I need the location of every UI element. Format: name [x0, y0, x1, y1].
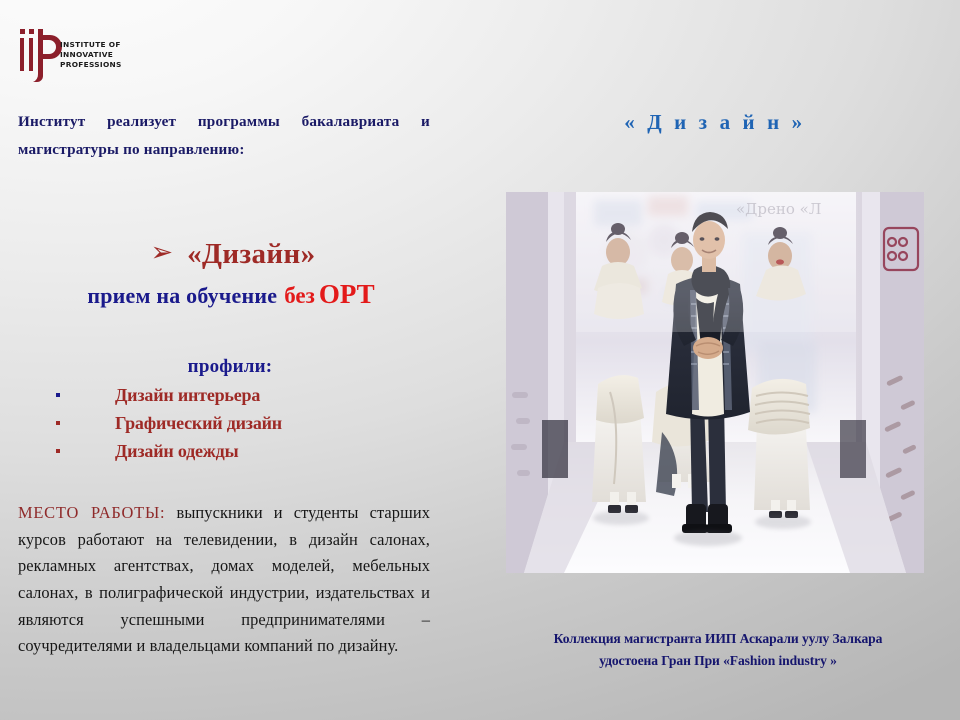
logo-line-2: INNOVATIVE — [60, 50, 113, 59]
profiles-title: профили: — [18, 356, 430, 378]
design-heading: ➢«Дизайн» — [18, 238, 430, 271]
iip-logo-icon: INSTITUTE OF INNOVATIVE PROFESSIONS — [8, 20, 128, 82]
square-bullet-icon — [56, 449, 60, 453]
list-item: Графический дизайн — [18, 413, 430, 434]
iip-logo: INSTITUTE OF INNOVATIVE PROFESSIONS — [8, 20, 128, 82]
profile-label: Графический дизайн — [115, 413, 282, 434]
right-panel-title: « Д и з а й н » — [505, 110, 925, 135]
profile-label: Дизайн одежды — [115, 441, 238, 462]
arrow-bullet-icon: ➢ — [150, 239, 173, 266]
admission-without-text: без — [284, 283, 315, 308]
square-bullet-icon — [56, 393, 60, 397]
admission-line: прием на обучениебезОРТ — [18, 279, 430, 310]
profiles-list: Дизайн интерьера Графический дизайн Диза… — [18, 385, 430, 462]
intro-paragraph: Институт реализует программы бакалавриат… — [18, 108, 430, 164]
left-content-column: Институт реализует программы бакалавриат… — [18, 108, 430, 676]
runway-fashion-show-photo: «Дрено «Л — [506, 192, 924, 573]
logo-line-1: INSTITUTE OF — [60, 40, 121, 49]
photo-caption-line-2: удостоена Гран При «Fashion industry » — [508, 650, 928, 672]
presentation-slide: INSTITUTE OF INNOVATIVE PROFESSIONS Инст… — [0, 0, 960, 720]
work-paragraph: МЕСТО РАБОТЫ: выпускники и студенты стар… — [18, 500, 430, 659]
admission-main-text: прием на обучение — [87, 283, 277, 308]
runway-photo-illustration: «Дрено «Л — [506, 192, 924, 573]
work-place-label: МЕСТО РАБОТЫ: — [18, 503, 165, 522]
logo-line-3: PROFESSIONS — [60, 60, 122, 69]
list-item: Дизайн одежды — [18, 441, 430, 462]
work-place-body: выпускники и студенты старших курсов раб… — [18, 503, 430, 655]
photo-caption-line-1: Коллекция магистранта ИИП Аскарали уулу … — [508, 628, 928, 650]
list-item: Дизайн интерьера — [18, 385, 430, 406]
photo-caption: Коллекция магистранта ИИП Аскарали уулу … — [508, 628, 928, 672]
admission-ort-text: ОРТ — [319, 279, 375, 309]
square-bullet-icon — [56, 421, 60, 425]
profiles-section: профили: Дизайн интерьера Графический ди… — [18, 356, 430, 462]
design-heading-text: «Дизайн» — [187, 238, 315, 271]
profile-label: Дизайн интерьера — [115, 385, 260, 406]
